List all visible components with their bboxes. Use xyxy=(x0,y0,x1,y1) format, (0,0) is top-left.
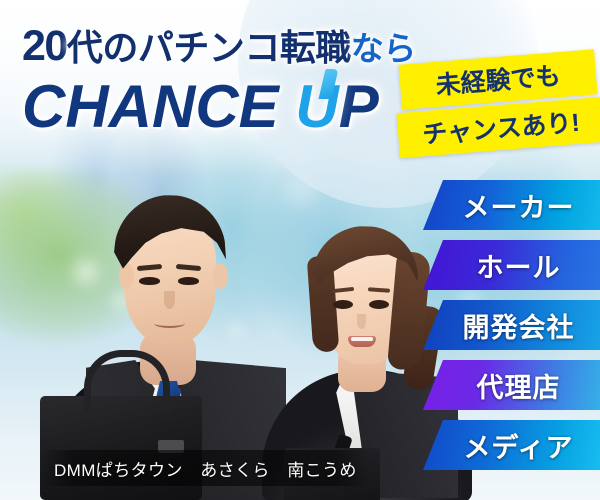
tag-label: メーカー xyxy=(449,186,575,225)
man-nose xyxy=(164,291,175,309)
logo-chance-up: CHANCE UP xyxy=(22,72,379,141)
tag-maker[interactable]: メーカー xyxy=(423,180,600,230)
woman-mouth xyxy=(348,336,376,347)
banner-ad[interactable]: 20代のパチンコ転職なら CHANCE UP 未経験でも チャンスあり! xyxy=(0,0,600,500)
tag-label: 開発会社 xyxy=(449,306,575,345)
tag-label: 代理店 xyxy=(463,366,561,405)
tag-media[interactable]: メディア xyxy=(423,420,600,470)
logo-part-p: P xyxy=(339,73,379,140)
tag-agency[interactable]: 代理店 xyxy=(423,360,600,410)
caption-text: DMMぱちタウン あさくら 南こうめ xyxy=(40,456,357,481)
man-mouth xyxy=(154,319,185,328)
tag-hall[interactable]: ホール xyxy=(423,240,600,290)
caption-bar: DMMぱちタウン あさくら 南こうめ xyxy=(40,450,370,486)
headline-number: 20 xyxy=(22,22,67,70)
badge-no-experience: 未経験でも チャンスあり! xyxy=(398,57,598,150)
tag-label: メディア xyxy=(449,426,573,465)
woman-nose xyxy=(357,314,366,329)
man-eye-left xyxy=(139,277,160,285)
tag-development-company[interactable]: 開発会社 xyxy=(423,300,600,350)
headline-main: 代のパチンコ転職 xyxy=(67,27,351,68)
man-ear-left xyxy=(119,263,134,289)
man-eye-right xyxy=(178,277,199,285)
logo-u-accent: U xyxy=(295,72,338,141)
logo-part-chance: CHANCE xyxy=(22,73,295,140)
woman-eye-right xyxy=(369,300,389,309)
headline: 20代のパチンコ転職なら xyxy=(22,19,416,71)
woman-eye-left xyxy=(333,300,353,309)
man-ear-right xyxy=(213,263,228,289)
tag-label: ホール xyxy=(463,246,561,285)
